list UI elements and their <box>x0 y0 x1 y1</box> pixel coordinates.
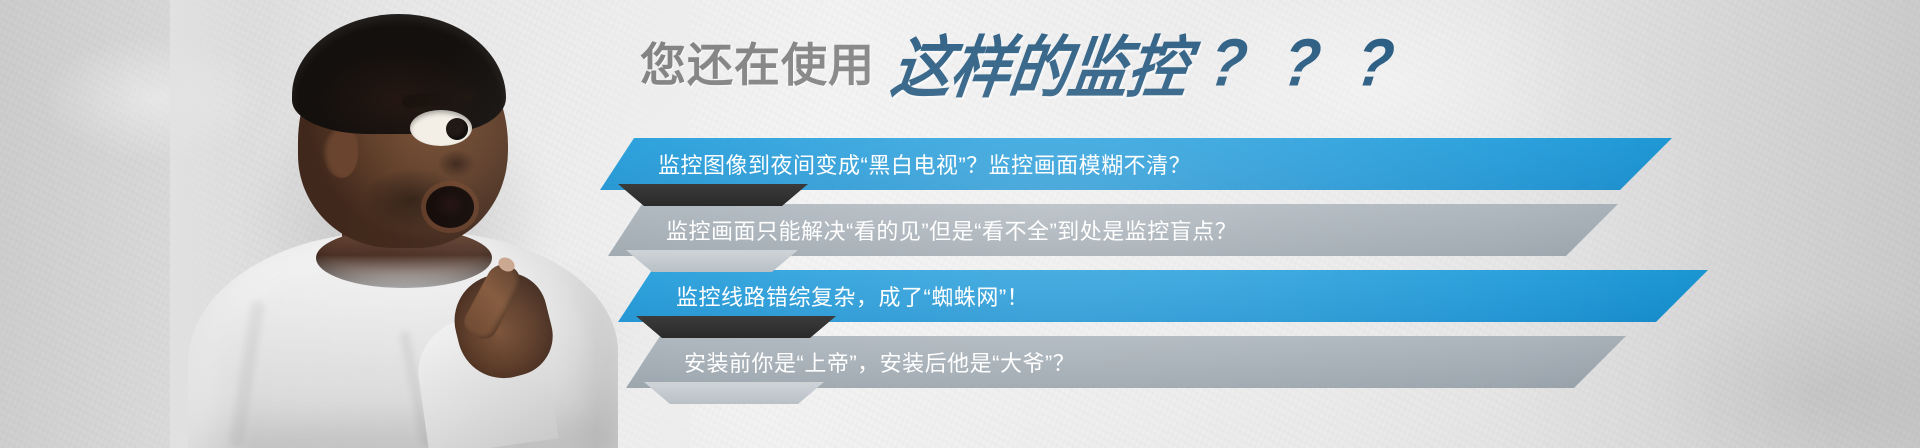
person-pupil <box>446 118 468 140</box>
headline-accent-text: 这样的监控 <box>886 13 1195 110</box>
ribbon-label: 安装前你是“上帝”，安装后他是“大爷”？ <box>684 346 1075 378</box>
ribbon-tail <box>618 184 808 206</box>
ribbon-body: 监控图像到夜间变成“黑白电视”？监控画面模糊不清？ <box>600 138 1672 190</box>
ribbon-body: 监控画面只能解决“看的见”但是“看不全”到处是监控盲点？ <box>608 204 1618 256</box>
feature-ribbon-list: 监控图像到夜间变成“黑白电视”？监控画面模糊不清？ 监控画面只能解决“看的见”但… <box>600 138 1890 394</box>
headline-plain-text: 您还在使用 <box>640 29 875 95</box>
promotional-banner: 您还在使用 这样的监控 ? ? ? 监控图像到夜间变成“黑白电视”？监控画面模糊… <box>0 0 1920 448</box>
ribbon-label: 监控线路错综复杂，成了“蜘蛛网”！ <box>676 280 1029 312</box>
person-mouth <box>426 186 474 228</box>
ribbon-tail <box>626 250 798 272</box>
ribbon-item: 安装前你是“上帝”，安装后他是“大爷”？ <box>600 336 1890 392</box>
person-ear <box>322 126 358 178</box>
headline: 您还在使用 这样的监控 ? ? ? <box>640 24 1403 100</box>
headline-question-marks: ? ? ? <box>1205 23 1409 100</box>
ribbon-item: 监控图像到夜间变成“黑白电视”？监控画面模糊不清？ <box>600 138 1890 194</box>
ribbon-body: 安装前你是“上帝”，安装后他是“大爷”？ <box>626 336 1626 388</box>
ribbon-body: 监控线路错综复杂，成了“蜘蛛网”！ <box>618 270 1708 322</box>
ribbon-label: 监控画面只能解决“看的见”但是“看不全”到处是监控盲点？ <box>666 214 1237 246</box>
ribbon-item: 监控画面只能解决“看的见”但是“看不全”到处是监控盲点？ <box>600 204 1890 260</box>
ribbon-tail <box>644 382 824 404</box>
ribbon-item: 监控线路错综复杂，成了“蜘蛛网”！ <box>600 270 1890 326</box>
person-nose <box>438 146 484 182</box>
ribbon-tail <box>636 316 836 338</box>
ribbon-label: 监控图像到夜间变成“黑白电视”？监控画面模糊不清？ <box>658 148 1191 180</box>
